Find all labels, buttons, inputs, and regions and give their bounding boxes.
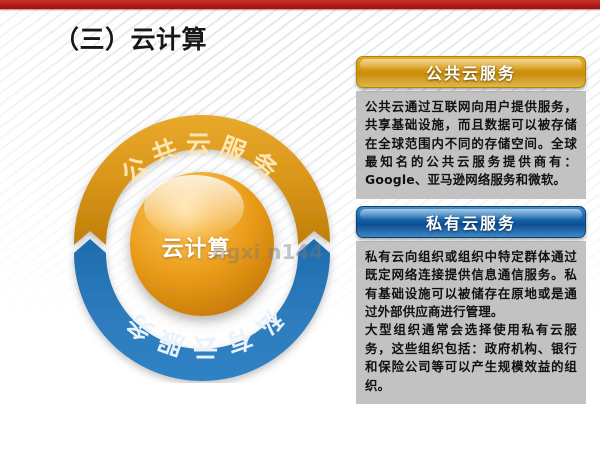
panel-private-cloud-paragraph-1: 私有云向组织或组织中特定群体通过既定网络连接提供信息通信服务。私有基础设施可以被… xyxy=(365,248,577,321)
top-red-bar-shadow xyxy=(0,9,600,11)
panel-public-cloud-header: 公共云服务 xyxy=(356,56,586,88)
panel-private-cloud-body: 私有云向组织或组织中特定群体通过既定网络连接提供信息通信服务。私有基础设施可以被… xyxy=(356,241,586,404)
panel-private-cloud-header: 私有云服务 xyxy=(356,206,586,238)
page-title: （三）云计算 xyxy=(54,20,207,56)
cloud-cycle-diagram: 公共云服务 私有云服务 云计算 xyxy=(62,103,342,383)
center-sphere xyxy=(130,172,274,316)
panel-public-cloud-title: 公共云服务 xyxy=(426,60,516,84)
slide-canvas: （三）云计算 xyxy=(0,0,600,450)
panel-private-cloud-paragraph-2: 大型组织通常会选择使用私有云服务，这些组织包括：政府机构、银行和保险公司等可以产… xyxy=(365,321,577,394)
panel-public-cloud: 公共云服务 公共云通过互联网向用户提供服务，共享基础设施，而且数据可以被存储在全… xyxy=(356,56,586,199)
panel-public-cloud-paragraph: 公共云通过互联网向用户提供服务，共享基础设施，而且数据可以被存储在全球范围内不同… xyxy=(365,98,577,190)
panel-private-cloud: 私有云服务 私有云向组织或组织中特定群体通过既定网络连接提供信息通信服务。私有基… xyxy=(356,206,586,404)
panel-public-cloud-body: 公共云通过互联网向用户提供服务，共享基础设施，而且数据可以被存储在全球范围内不同… xyxy=(356,91,586,199)
top-red-bar xyxy=(0,0,600,9)
panel-private-cloud-title: 私有云服务 xyxy=(426,210,516,234)
